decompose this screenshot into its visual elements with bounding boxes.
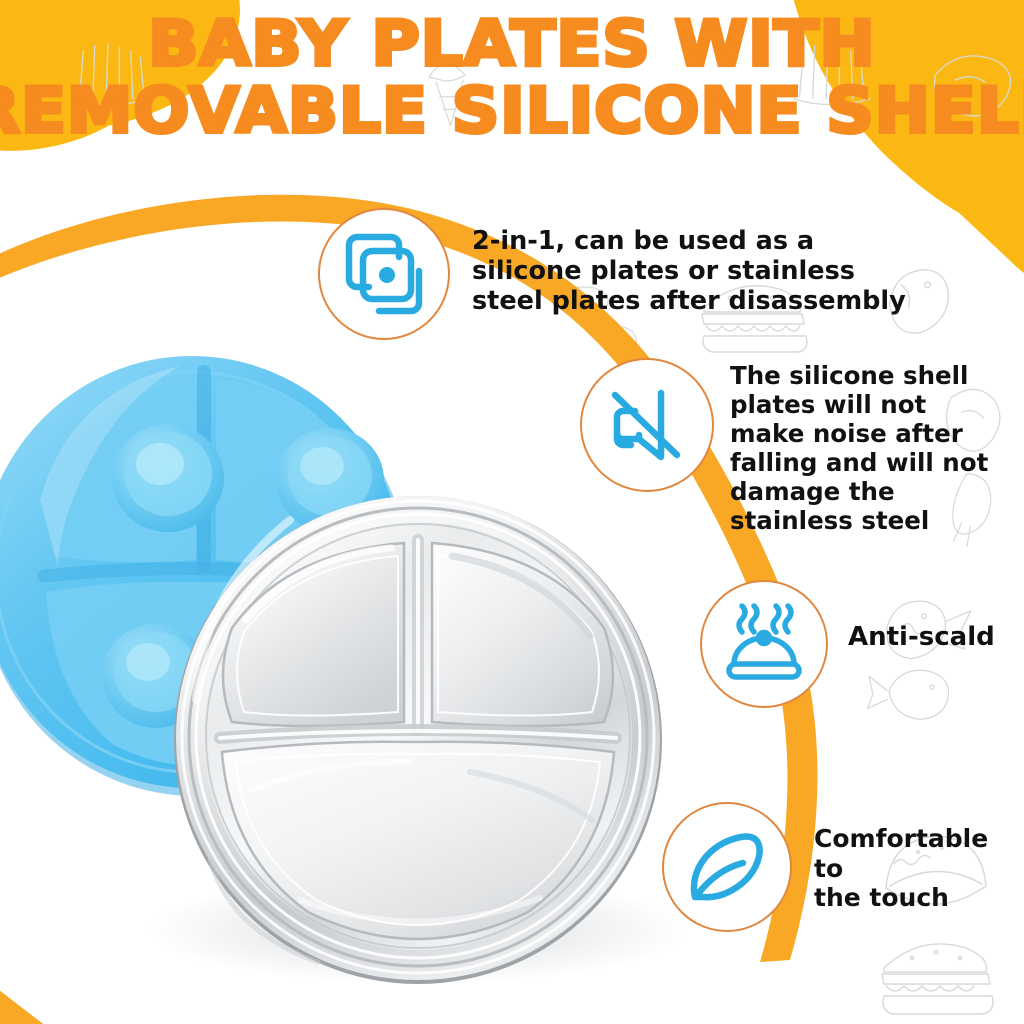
feature-badge-anti-scald: [700, 580, 828, 708]
headline-line-1: BABY PLATES WITH: [0, 14, 1024, 75]
headline-line-2: REMOVABLE SILICONE SHELL: [0, 81, 1024, 142]
headline: BABY PLATES WITH REMOVABLE SILICONE SHEL…: [0, 14, 1024, 142]
feature-badge-no-noise: [580, 358, 714, 492]
feature-no-noise: The silicone shell plates will not make …: [580, 358, 998, 535]
feature-text-comfortable-touch: Comfortable to the touch: [814, 824, 988, 913]
feature-anti-scald: Anti-scald: [700, 580, 995, 708]
feature-text-anti-scald: Anti-scald: [848, 622, 995, 653]
leaf-icon: [685, 825, 769, 909]
infographic-canvas: BABY PLATES WITH REMOVABLE SILICONE SHEL…: [0, 0, 1024, 1024]
feature-badge-two-in-one: [318, 208, 450, 340]
layers-icon: [341, 231, 427, 317]
feature-text-no-noise: The silicone shell plates will not make …: [730, 362, 998, 535]
speaker-muted-icon: [605, 383, 689, 467]
feature-two-in-one: 2-in-1, can be used as a silicone plates…: [318, 208, 932, 340]
feature-text-two-in-one: 2-in-1, can be used as a silicone plates…: [472, 226, 932, 316]
stainless-steel-plate: [174, 496, 662, 984]
feature-badge-comfortable-touch: [662, 802, 792, 932]
food-dome-steam-icon: [722, 602, 806, 686]
feature-comfortable-touch: Comfortable to the touch: [662, 802, 988, 932]
suction-cup: [112, 424, 224, 532]
